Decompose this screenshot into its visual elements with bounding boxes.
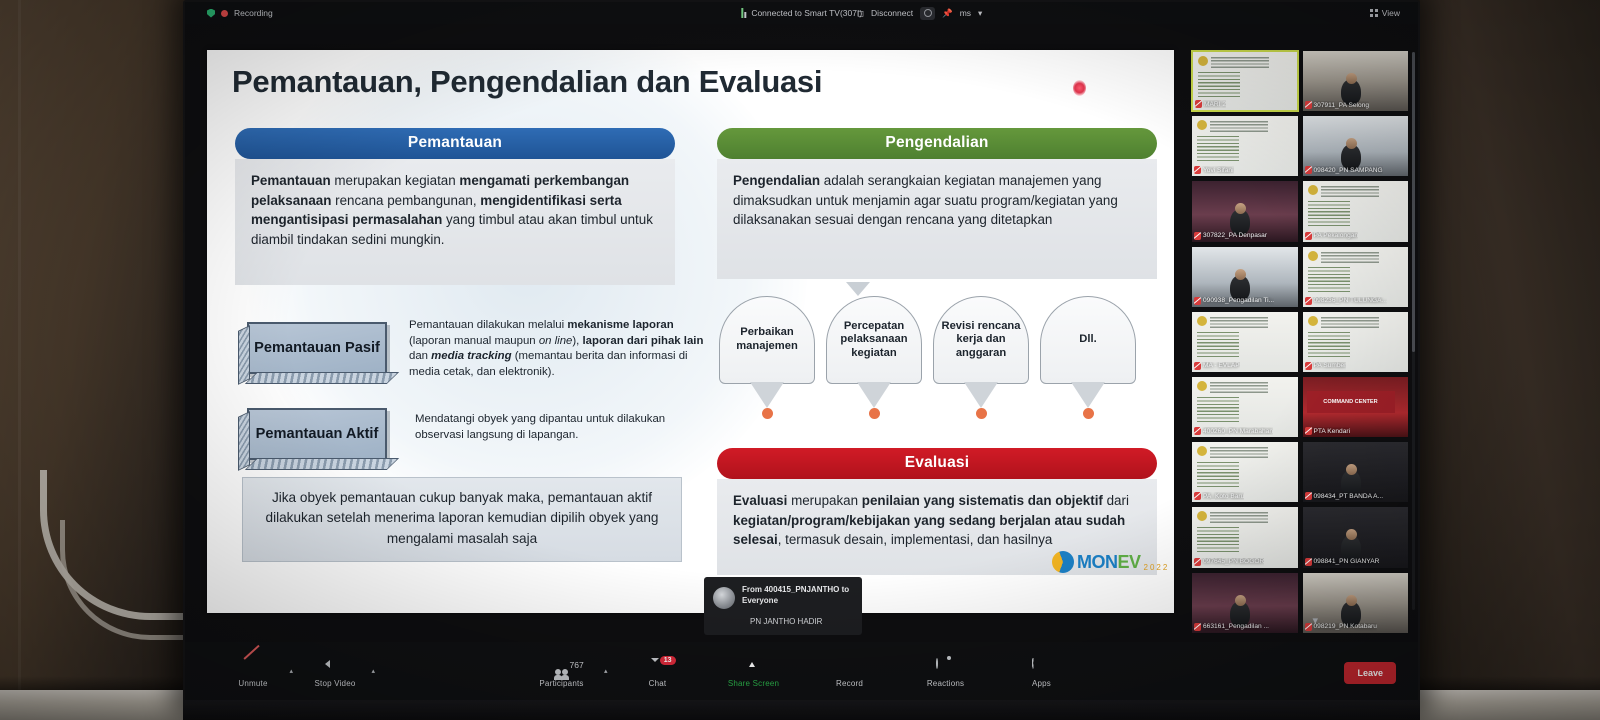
apps-button[interactable]: Apps	[1016, 659, 1068, 688]
person-face	[1346, 73, 1357, 84]
participant-name: PTA Kendari	[1305, 427, 1351, 435]
participant-tile[interactable]: 663161_Pengadilan ...	[1191, 572, 1299, 634]
participant-gallery[interactable]: MARI 2307911_PA SelongYovi Sifani098420_…	[1191, 50, 1409, 610]
participant-name: 097645_PN BOGOR	[1194, 558, 1264, 566]
mic-muted-icon	[1194, 623, 1201, 631]
gear-icon[interactable]	[920, 7, 935, 20]
pemantauan-note: Jika obyek pemantauan cukup banyak maka,…	[242, 477, 682, 562]
mic-muted-icon	[1305, 166, 1312, 174]
participant-name: PA_Koto Baru	[1194, 492, 1244, 500]
bubble-tail	[964, 382, 998, 408]
apps-icon	[1032, 659, 1052, 675]
avatar-icon	[713, 587, 735, 609]
document-text	[1308, 332, 1350, 358]
participant-name: MARI 2	[1195, 100, 1226, 108]
person-face	[1235, 595, 1246, 606]
person-face	[1235, 269, 1246, 280]
bubble-dot-icon	[762, 408, 773, 419]
panel-pemantauan: Pemantauan Pemantauan merupakan kegiatan…	[235, 128, 675, 285]
description-pemantauan-pasif: Pemantauan dilakukan melalui mekanisme l…	[409, 318, 709, 381]
participant-name: 098420_PN SAMPANG	[1305, 166, 1383, 174]
participant-tile[interactable]: PA Sumber	[1302, 311, 1410, 373]
stop-video-label: Stop Video	[315, 679, 356, 688]
participant-name: 090938_Pengadilan Ti...	[1194, 297, 1274, 305]
monev-logo: MONEV 2022	[1052, 551, 1169, 573]
pengendalian-bubble: Dll.	[1040, 296, 1136, 384]
person-face	[1346, 464, 1357, 475]
participant-tile[interactable]: 097645_PN BOGOR	[1191, 506, 1299, 568]
pemantauan-header: Pemantauan	[235, 128, 675, 159]
participant-name: PA Pekalongan	[1305, 232, 1359, 240]
reactions-button[interactable]: Reactions	[920, 659, 972, 688]
view-label[interactable]: View	[1382, 8, 1400, 18]
share-screen-icon	[744, 659, 764, 675]
mic-muted-icon	[1194, 492, 1201, 500]
shared-screen-slide: Pemantauan, Pengendalian dan Evaluasi Pe…	[207, 50, 1174, 613]
mic-muted-icon	[1305, 492, 1312, 500]
evaluasi-header: Evaluasi	[717, 448, 1157, 479]
mic-muted-icon	[1194, 558, 1201, 566]
zoom-top-bar: Recording Connected to Smart TV(307I) ◻ …	[185, 2, 1418, 24]
monev-wordmark: MONEV	[1077, 552, 1141, 573]
mic-muted-icon	[1305, 623, 1312, 631]
mic-muted-icon	[1305, 297, 1312, 305]
bubble-tail	[750, 382, 784, 408]
chat-button[interactable]: 13 Chat	[632, 659, 684, 688]
pin-icon[interactable]: 📌	[942, 8, 953, 19]
participants-count: 767	[570, 660, 584, 670]
monev-logo-icon	[1052, 551, 1074, 573]
mic-muted-icon	[1194, 166, 1201, 174]
apps-label: Apps	[1032, 679, 1051, 688]
participant-tile[interactable]: 307822_PA Denpasar	[1191, 180, 1299, 242]
participant-tile[interactable]: COMMAND CENTERPTA Kendari	[1302, 376, 1410, 438]
chevron-up-icon[interactable]: ▴	[289, 667, 293, 675]
bubble-dot-icon	[869, 408, 880, 419]
mic-muted-icon	[1194, 427, 1201, 435]
record-circle-icon	[840, 659, 860, 675]
monitor-bezel	[183, 700, 1420, 720]
camera-icon	[325, 659, 345, 675]
cast-signal-icon	[741, 8, 747, 18]
pengendalian-bubble: Percepatan pelaksanaan kegiatan	[826, 296, 922, 384]
laser-dot-icon	[1073, 80, 1086, 96]
recording-label: Recording	[234, 8, 273, 18]
pemantauan-body: Pemantauan merupakan kegiatan mengamati …	[235, 159, 675, 285]
people-icon	[552, 659, 572, 675]
stop-video-button[interactable]: Stop Video ▴	[309, 659, 361, 688]
participant-name: MA - EVLAP	[1194, 362, 1240, 370]
participant-tile[interactable]: 098434_PT BANDA A...	[1302, 441, 1410, 503]
pengendalian-bubble-row: Perbaikan manajemenPercepatan pelaksanaa…	[719, 296, 1159, 416]
screen: Recording Connected to Smart TV(307I) ◻ …	[185, 2, 1418, 704]
participant-tile[interactable]: 307911_PA Selong	[1302, 50, 1410, 112]
participant-name: 400260_PN Marabahan	[1194, 427, 1273, 435]
participant-tile[interactable]: 090938_Pengadilan Ti...	[1191, 246, 1299, 308]
microphone-muted-icon	[243, 659, 263, 675]
banner: COMMAND CENTER	[1307, 391, 1395, 413]
recording-dot-icon	[221, 10, 228, 17]
bubble-dot-icon	[976, 408, 987, 419]
mic-muted-icon	[1305, 427, 1312, 435]
mic-muted-icon	[1195, 100, 1202, 108]
participant-name: 663161_Pengadilan ...	[1194, 623, 1269, 631]
bubble-tail	[857, 382, 891, 408]
description-pemantauan-aktif: Mendatangi obyek yang dipantau untuk dil…	[415, 412, 715, 443]
document-text	[1197, 332, 1239, 358]
person-face	[1346, 138, 1357, 149]
share-screen-button[interactable]: Share Screen	[728, 659, 780, 688]
tag-pemantauan-aktif: Pemantauan Aktif	[247, 408, 387, 460]
chat-label: Chat	[649, 679, 667, 688]
bubble-dot-icon	[1083, 408, 1094, 419]
monitor: Recording Connected to Smart TV(307I) ◻ …	[183, 0, 1420, 706]
mic-muted-icon	[1194, 362, 1201, 370]
chevron-down-icon[interactable]: ▾	[978, 8, 982, 19]
document-text	[1198, 72, 1240, 98]
participant-tile[interactable]: 098841_PN GIANYAR	[1302, 506, 1410, 568]
participant-tile[interactable]: MA - EVLAP	[1191, 311, 1299, 373]
participant-name: 307911_PA Selong	[1305, 101, 1370, 109]
encryption-shield-icon	[207, 9, 215, 18]
monev-year: 2022	[1144, 563, 1170, 572]
participant-name: 098434_PT BANDA A...	[1305, 492, 1384, 500]
wall-right	[1420, 0, 1600, 720]
disconnect-label[interactable]: Disconnect	[871, 8, 913, 18]
participant-name: 098236_PN TULUNGA...	[1305, 297, 1388, 305]
mic-muted-icon	[1305, 101, 1312, 109]
document-text	[1308, 267, 1350, 293]
participant-name: Yovi Sifani	[1194, 166, 1234, 174]
chat-notification-toast[interactable]: From 400415_PNJANTHO to Everyone PN JANT…	[704, 577, 862, 635]
person-face	[1346, 529, 1357, 540]
gallery-scrollbar[interactable]	[1412, 52, 1415, 610]
mic-muted-icon	[1305, 558, 1312, 566]
participant-tile[interactable]: 098236_PN TULUNGA...	[1302, 246, 1410, 308]
down-arrow-icon	[846, 282, 870, 296]
document-text	[1197, 462, 1239, 488]
slide-title: Pemantauan, Pengendalian dan Evaluasi	[232, 64, 822, 100]
pengendalian-header: Pengendalian	[717, 128, 1157, 159]
participants-button[interactable]: Participants 767 ▴	[536, 659, 588, 688]
network-latency-label: ms	[960, 8, 971, 18]
panel-pengendalian: Pengendalian Pengendalian adalah serangk…	[717, 128, 1157, 279]
chevron-up-icon[interactable]: ▴	[371, 667, 375, 675]
chat-unread-badge: 13	[660, 656, 676, 666]
participant-name: PA Sumber	[1305, 362, 1347, 370]
bubble-tail	[1071, 382, 1105, 408]
participant-tile[interactable]: Yovi Sifani	[1191, 115, 1299, 177]
record-label: Record	[836, 679, 863, 688]
mic-muted-icon	[1305, 362, 1312, 370]
mic-muted-icon	[1194, 297, 1201, 305]
pengendalian-bubble: Perbaikan manajemen	[719, 296, 815, 384]
participant-tile[interactable]: PA_Koto Baru	[1191, 441, 1299, 503]
unmute-button[interactable]: Unmute ▴	[227, 659, 279, 688]
tag-pemantauan-pasif: Pemantauan Pasif	[247, 322, 387, 374]
participant-name: 098841_PN GIANYAR	[1305, 558, 1380, 566]
grid-icon[interactable]	[1370, 9, 1378, 17]
disconnect-icon[interactable]: ◻	[857, 8, 864, 19]
participant-name: 307822_PA Denpasar	[1194, 232, 1267, 240]
reactions-label: Reactions	[927, 679, 964, 688]
zoom-bottom-toolbar: Unmute ▴ Stop Video ▴ Participants 767 ▴	[185, 642, 1418, 704]
participant-tile[interactable]: PA Pekalongan	[1302, 180, 1410, 242]
document-text	[1197, 136, 1239, 162]
cast-status-label: Connected to Smart TV(307I)	[751, 8, 862, 18]
chat-toast-message: PN JANTHO HADIR	[750, 617, 822, 626]
pengendalian-bubble: Revisi rencana kerja dan anggaran	[933, 296, 1029, 384]
leave-button[interactable]: Leave	[1344, 662, 1396, 684]
participant-tile[interactable]: MARI 2	[1191, 50, 1299, 112]
share-screen-label: Share Screen	[728, 679, 779, 688]
mic-muted-icon	[1194, 232, 1201, 240]
participant-tile[interactable]: 098420_PN SAMPANG	[1302, 115, 1410, 177]
document-text	[1197, 527, 1239, 553]
participant-tile[interactable]: 400260_PN Marabahan	[1191, 376, 1299, 438]
reactions-icon	[936, 659, 956, 675]
document-text	[1308, 201, 1350, 227]
participants-label: Participants	[539, 679, 583, 688]
person-face	[1346, 595, 1357, 606]
record-button[interactable]: Record	[824, 659, 876, 688]
unmute-label: Unmute	[238, 679, 267, 688]
pengendalian-body: Pengendalian adalah serangkaian kegiatan…	[717, 159, 1157, 279]
document-text	[1197, 397, 1239, 423]
mic-muted-icon	[1305, 232, 1312, 240]
chevron-up-icon[interactable]: ▴	[604, 667, 608, 675]
chevron-down-icon[interactable]: ▾	[1312, 614, 1318, 627]
